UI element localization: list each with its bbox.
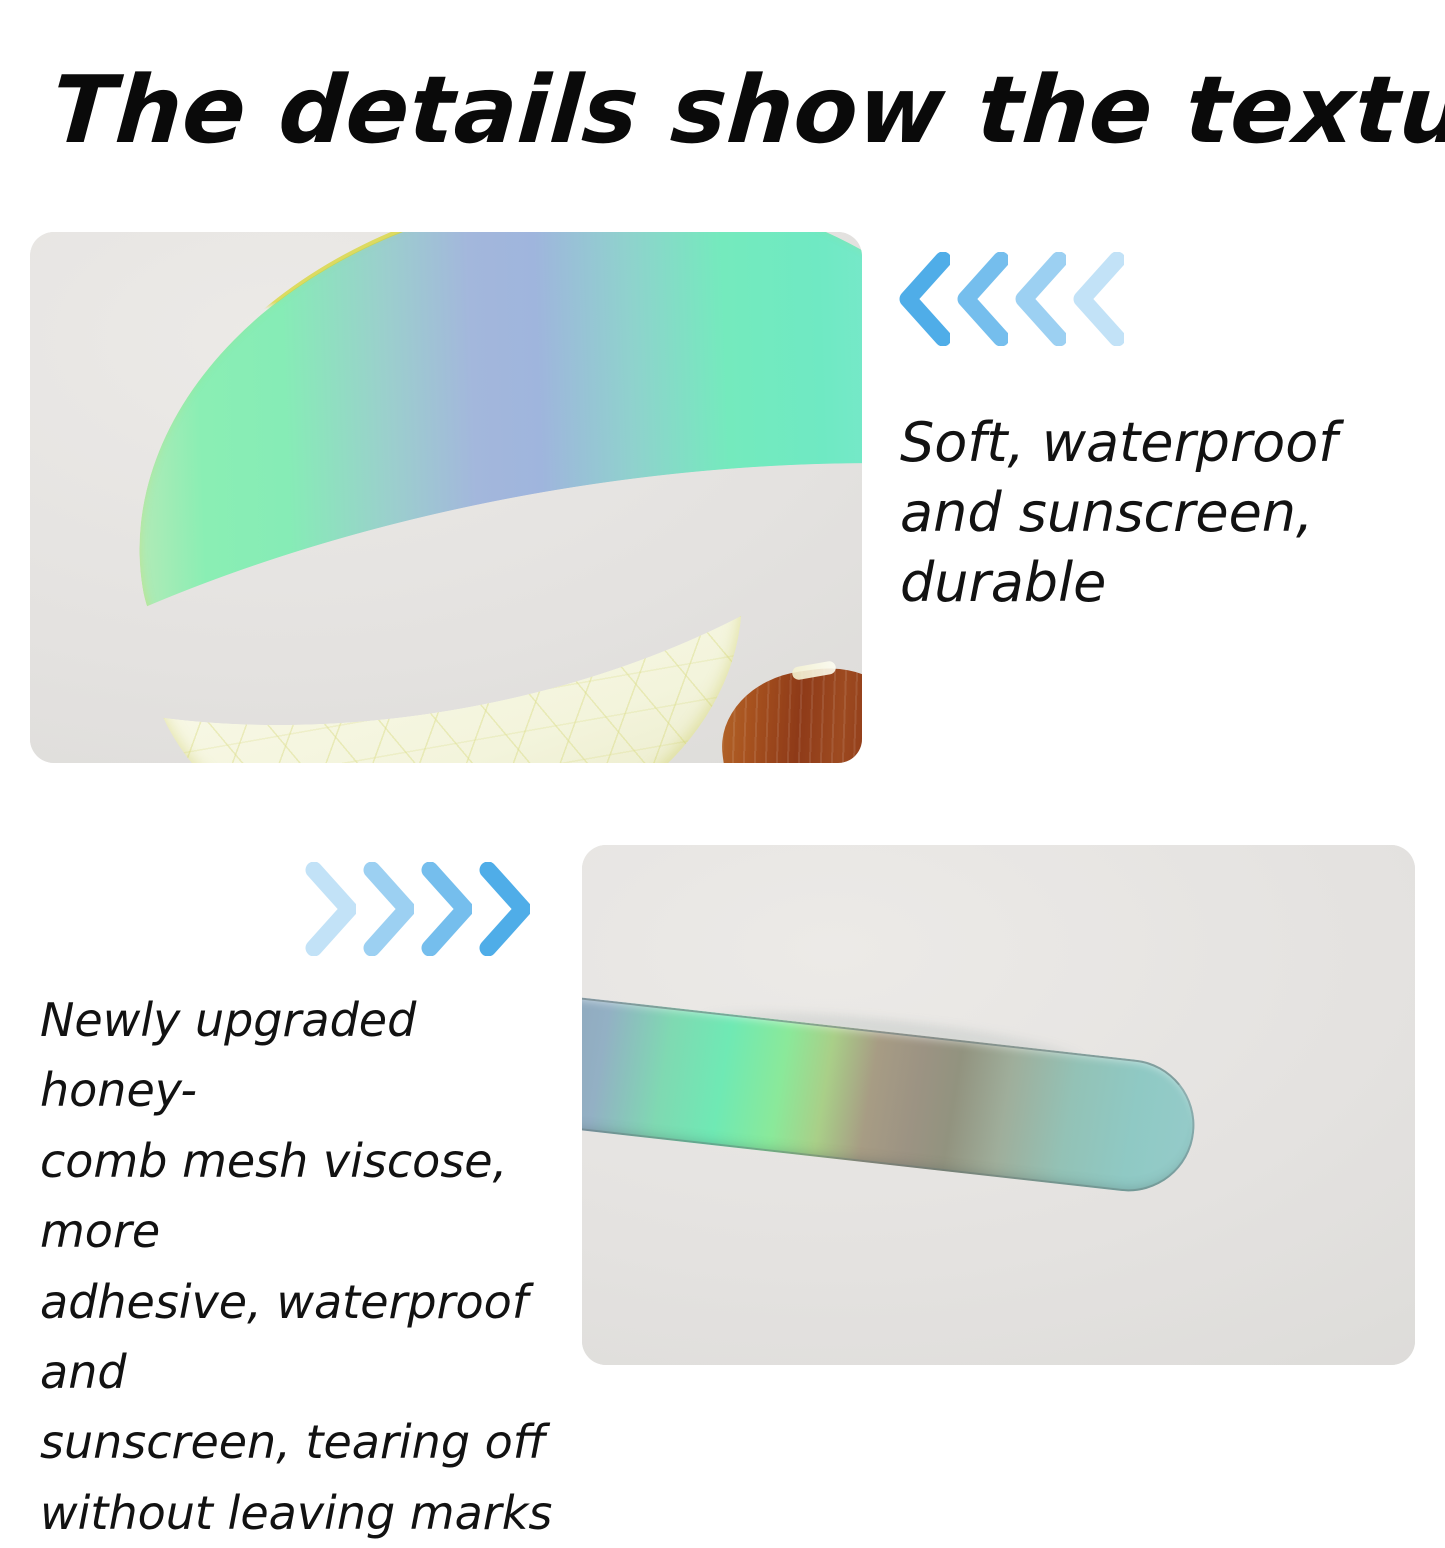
chevron-right-icon bbox=[418, 862, 472, 956]
chevron-right-icon bbox=[302, 862, 356, 956]
chevron-left-group bbox=[896, 252, 1124, 346]
feature-text-soft-waterproof: Soft, waterproof and sunscreen, durable bbox=[900, 408, 1400, 619]
chevron-right-group bbox=[302, 862, 530, 956]
chevron-left-icon bbox=[1070, 252, 1124, 346]
tape-strip-closeup-photo bbox=[582, 845, 1415, 1365]
looped-holographic-tape-photo bbox=[30, 232, 862, 763]
page-title: The details show the texture bbox=[49, 62, 1416, 160]
chevron-left-icon bbox=[954, 252, 1008, 346]
chevron-left-icon bbox=[1012, 252, 1066, 346]
chevron-right-icon bbox=[360, 862, 414, 956]
tape-strip-illustration bbox=[582, 845, 1415, 1365]
tape-loop-illustration bbox=[30, 232, 862, 763]
chevron-right-icon bbox=[476, 862, 530, 956]
chevron-left-icon bbox=[896, 252, 950, 346]
feature-text-honeycomb-mesh: Newly upgraded honey- comb mesh viscose,… bbox=[40, 985, 585, 1548]
